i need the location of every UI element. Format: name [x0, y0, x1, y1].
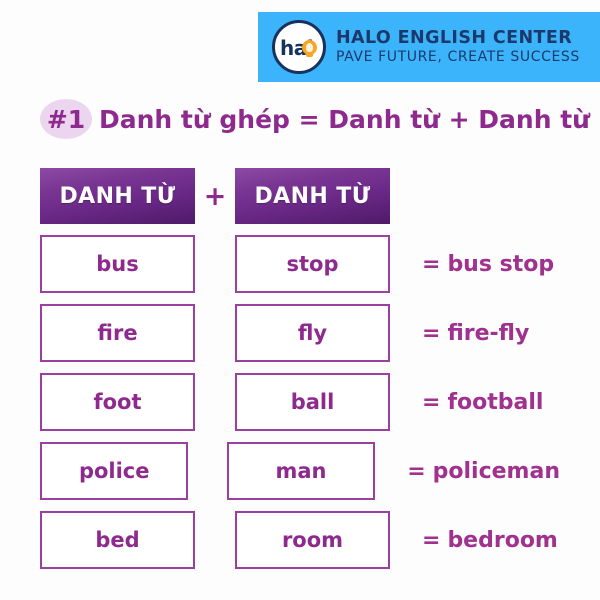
row-result: =policeman	[407, 459, 560, 484]
brand-text-block: HALO ENGLISH CENTER PAVE FUTURE, CREATE …	[336, 29, 580, 64]
row-result-text: football	[447, 390, 543, 415]
word-cell-right: man	[227, 442, 375, 500]
row-result: =bedroom	[422, 528, 558, 553]
word-cell-right-label: stop	[287, 252, 339, 276]
table-row: foot ball =football	[40, 373, 560, 431]
word-cell-left: fire	[40, 304, 195, 362]
word-cell-left-label: police	[79, 459, 150, 483]
word-cell-right: ball	[235, 373, 390, 431]
headline-badge: #1	[40, 99, 92, 139]
page-root: hal HALO ENGLISH CENTER PAVE FUTURE, CRE…	[0, 0, 600, 600]
lightbulb-stem-icon	[306, 53, 313, 57]
word-cell-left: police	[40, 442, 188, 500]
table-row: police man =policeman	[40, 442, 560, 500]
row-result-text: bus stop	[447, 252, 554, 277]
word-cell-right-label: man	[275, 459, 326, 483]
equals-sign: =	[407, 459, 425, 484]
word-cell-left: bus	[40, 235, 195, 293]
row-result-text: policeman	[433, 459, 560, 484]
halo-logo-icon: hal	[272, 20, 326, 74]
word-cell-left-label: bus	[96, 252, 138, 276]
word-cell-right-label: room	[282, 528, 343, 552]
header-cell-right: DANH TỪ	[235, 168, 390, 224]
table-header-row: DANH TỪ + DANH TỪ	[40, 168, 560, 224]
word-cell-right-label: fly	[298, 321, 327, 345]
word-cell-left-label: foot	[93, 390, 141, 414]
equals-sign: =	[422, 252, 440, 277]
row-result-text: fire-fly	[447, 321, 529, 346]
equals-sign: =	[422, 528, 440, 553]
page-title: #1 Danh từ ghép = Danh từ + Danh từ	[40, 98, 590, 140]
brand-tagline: PAVE FUTURE, CREATE SUCCESS	[336, 50, 580, 65]
header-cell-left-label: DANH TỪ	[60, 184, 176, 209]
plus-separator-icon: +	[195, 183, 235, 210]
row-result: =bus stop	[422, 252, 554, 277]
compound-noun-table: DANH TỪ + DANH TỪ bus stop =bus stop fir…	[40, 168, 560, 580]
word-cell-left: bed	[40, 511, 195, 569]
word-cell-right: stop	[235, 235, 390, 293]
brand-title: HALO ENGLISH CENTER	[336, 29, 580, 47]
brand-banner: hal HALO ENGLISH CENTER PAVE FUTURE, CRE…	[258, 12, 600, 82]
table-row: bus stop =bus stop	[40, 235, 560, 293]
word-cell-right-label: ball	[291, 390, 335, 414]
row-result: =football	[422, 390, 543, 415]
word-cell-right: room	[235, 511, 390, 569]
header-cell-right-label: DANH TỪ	[255, 184, 371, 209]
row-result: =fire-fly	[422, 321, 529, 346]
equals-sign: =	[422, 390, 440, 415]
word-cell-left-label: bed	[95, 528, 139, 552]
row-result-text: bedroom	[447, 528, 557, 553]
table-row: fire fly =fire-fly	[40, 304, 560, 362]
header-cell-left: DANH TỪ	[40, 168, 195, 224]
headline-text: Danh từ ghép = Danh từ + Danh từ	[99, 105, 590, 134]
word-cell-left: foot	[40, 373, 195, 431]
table-row: bed room =bedroom	[40, 511, 560, 569]
word-cell-left-label: fire	[97, 321, 137, 345]
equals-sign: =	[422, 321, 440, 346]
word-cell-right: fly	[235, 304, 390, 362]
